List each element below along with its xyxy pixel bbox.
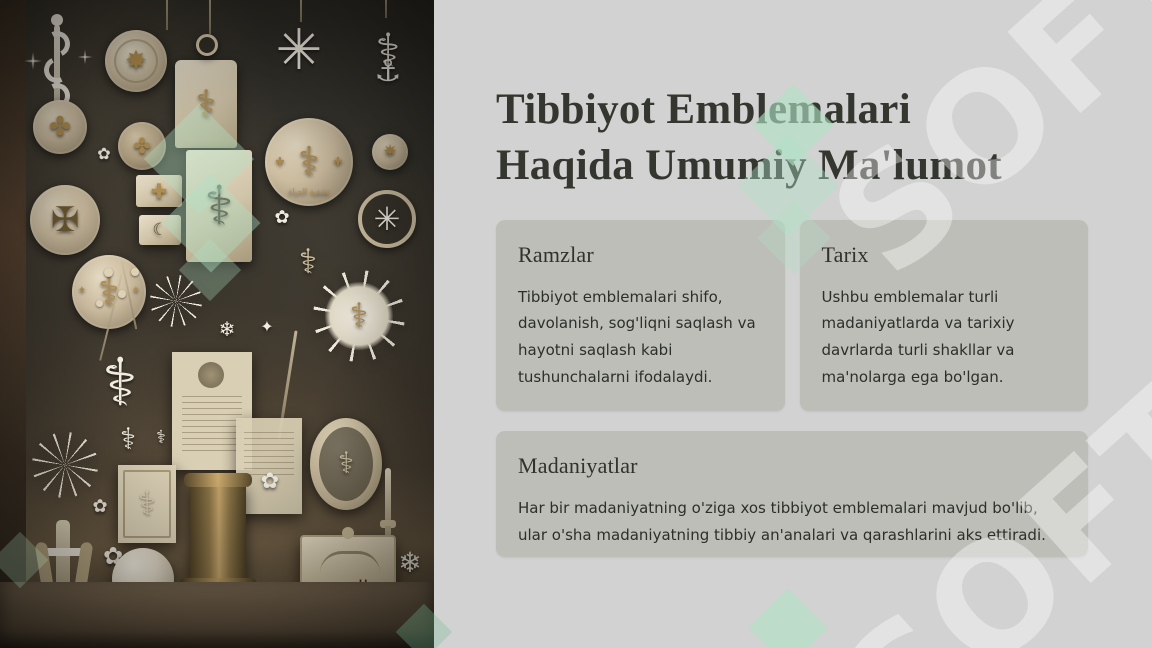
card-title: Ramzlar (518, 242, 761, 268)
card-body: Har bir madaniyatning o'ziga xos tibbiyo… (518, 495, 1064, 550)
page-title-line-2: Haqida Umumiy Ma'lumot (496, 138, 1088, 194)
hero-photo: ✤ ✸ ✤ ✳ ⚕ ⚓ ⚕ ⚕ ✚ ✚ تشفية الحياة ✷ (0, 0, 434, 648)
card-body: Ushbu emblemalar turli madaniyatlarda va… (822, 284, 1065, 391)
card-tarix: Tarix Ushbu emblemalar turli madaniyatla… (800, 220, 1089, 411)
page-title: Tibbiyot Emblemalari Haqida Umumiy Ma'lu… (496, 82, 1088, 194)
card-ramzlar: Ramzlar Tibbiyot emblemalari shifo, davo… (496, 220, 785, 411)
card-body: Tibbiyot emblemalari shifo, davolanish, … (518, 284, 761, 391)
content-panel: Tibbiyot Emblemalari Haqida Umumiy Ma'lu… (434, 0, 1152, 648)
card-title: Madaniyatlar (518, 453, 1064, 479)
card-madaniyatlar: Madaniyatlar Har bir madaniyatning o'zig… (496, 431, 1088, 558)
card-title: Tarix (822, 242, 1065, 268)
slide-root: ✤ ✸ ✤ ✳ ⚕ ⚓ ⚕ ⚕ ✚ ✚ تشفية الحياة ✷ (0, 0, 1152, 648)
page-title-line-1: Tibbiyot Emblemalari (496, 82, 1088, 138)
card-grid-top: Ramzlar Tibbiyot emblemalari shifo, davo… (496, 220, 1088, 411)
photo-vignette (0, 0, 434, 648)
